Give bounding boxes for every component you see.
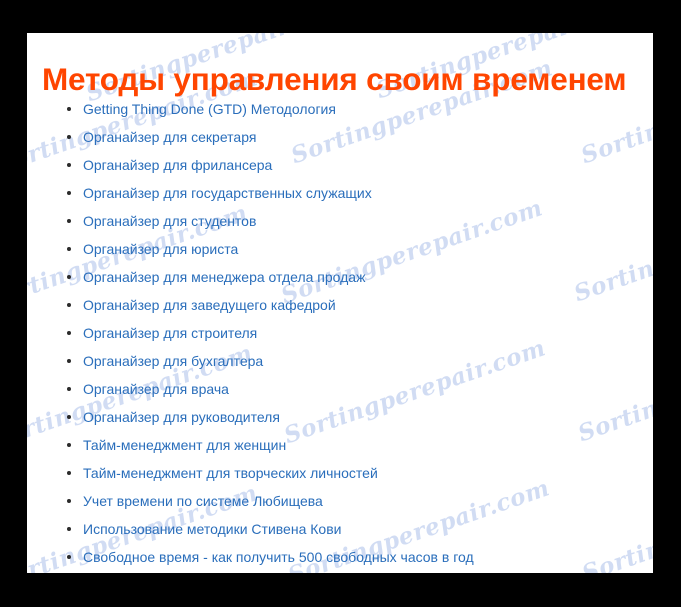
article-link[interactable]: Свободное время - как получить 500 свобо… bbox=[83, 549, 474, 565]
list-item[interactable]: Использование методики Стивена Кови bbox=[45, 515, 645, 543]
list-item[interactable]: Органайзер для юриста bbox=[45, 235, 645, 263]
list-item[interactable]: Тайм-менеджмент для женщин bbox=[45, 431, 645, 459]
list-item[interactable]: Органайзер для государственных служащих bbox=[45, 179, 645, 207]
list-item[interactable]: Органайзер для заведущего кафедрой bbox=[45, 291, 645, 319]
list-item[interactable]: Getting Thing Done (GTD) Методология bbox=[45, 95, 645, 123]
article-link[interactable]: Органайзер для бухгалтера bbox=[83, 353, 263, 369]
article-link[interactable]: Органайзер для секретаря bbox=[83, 129, 256, 145]
article-link[interactable]: Органайзер для руководителя bbox=[83, 409, 280, 425]
document-panel: Sortingperepair.comSortingperepair.comSo… bbox=[27, 33, 653, 573]
bullet-dot-icon bbox=[67, 527, 71, 531]
bullet-dot-icon bbox=[67, 163, 71, 167]
article-link[interactable]: Органайзер для строителя bbox=[83, 325, 257, 341]
list-item[interactable]: Органайзер для фрилансера bbox=[45, 151, 645, 179]
list-item[interactable]: Органайзер для строителя bbox=[45, 319, 645, 347]
article-link[interactable]: Органайзер для менеджера отдела продаж bbox=[83, 269, 365, 285]
bullet-dot-icon bbox=[67, 443, 71, 447]
bullet-dot-icon bbox=[67, 387, 71, 391]
page-root: Sortingperepair.comSortingperepair.comSo… bbox=[0, 0, 681, 607]
list-item[interactable]: Органайзер для руководителя bbox=[45, 403, 645, 431]
bullet-dot-icon bbox=[67, 555, 71, 559]
bullet-dot-icon bbox=[67, 303, 71, 307]
article-link[interactable]: Органайзер для государственных служащих bbox=[83, 185, 372, 201]
article-link[interactable]: Органайзер для фрилансера bbox=[83, 157, 272, 173]
article-link[interactable]: Органайзер для студентов bbox=[83, 213, 256, 229]
list-item[interactable]: Органайзер для секретаря bbox=[45, 123, 645, 151]
article-link[interactable]: Органайзер для заведущего кафедрой bbox=[83, 297, 336, 313]
article-link[interactable]: Органайзер для врача bbox=[83, 381, 229, 397]
article-link[interactable]: Учет времени по системе Любищева bbox=[83, 493, 323, 509]
bullet-dot-icon bbox=[67, 275, 71, 279]
page-title: Методы управления своим временем bbox=[42, 59, 642, 99]
list-item[interactable]: Органайзер для студентов bbox=[45, 207, 645, 235]
list-item[interactable]: Органайзер для врача bbox=[45, 375, 645, 403]
bullet-dot-icon bbox=[67, 219, 71, 223]
bullet-dot-icon bbox=[67, 359, 71, 363]
list-item[interactable]: Учет времени по системе Любищева bbox=[45, 487, 645, 515]
bullet-dot-icon bbox=[67, 247, 71, 251]
bullet-dot-icon bbox=[67, 331, 71, 335]
article-link[interactable]: Getting Thing Done (GTD) Методология bbox=[83, 101, 336, 117]
article-link[interactable]: Использование методики Стивена Кови bbox=[83, 521, 341, 537]
list-item[interactable]: Свободное время - как получить 500 свобо… bbox=[45, 543, 645, 571]
bullet-dot-icon bbox=[67, 471, 71, 475]
bullet-dot-icon bbox=[67, 499, 71, 503]
article-link[interactable]: Органайзер для юриста bbox=[83, 241, 238, 257]
bullet-dot-icon bbox=[67, 191, 71, 195]
bullet-dot-icon bbox=[67, 415, 71, 419]
bullet-dot-icon bbox=[67, 135, 71, 139]
list-item[interactable]: Тайм-менеджмент для творческих личностей bbox=[45, 459, 645, 487]
article-link[interactable]: Тайм-менеджмент для женщин bbox=[83, 437, 286, 453]
article-link-list: Getting Thing Done (GTD) МетодологияОрга… bbox=[45, 95, 645, 571]
article-link[interactable]: Тайм-менеджмент для творческих личностей bbox=[83, 465, 378, 481]
bullet-dot-icon bbox=[67, 107, 71, 111]
list-item[interactable]: Органайзер для менеджера отдела продаж bbox=[45, 263, 645, 291]
list-item[interactable]: Органайзер для бухгалтера bbox=[45, 347, 645, 375]
